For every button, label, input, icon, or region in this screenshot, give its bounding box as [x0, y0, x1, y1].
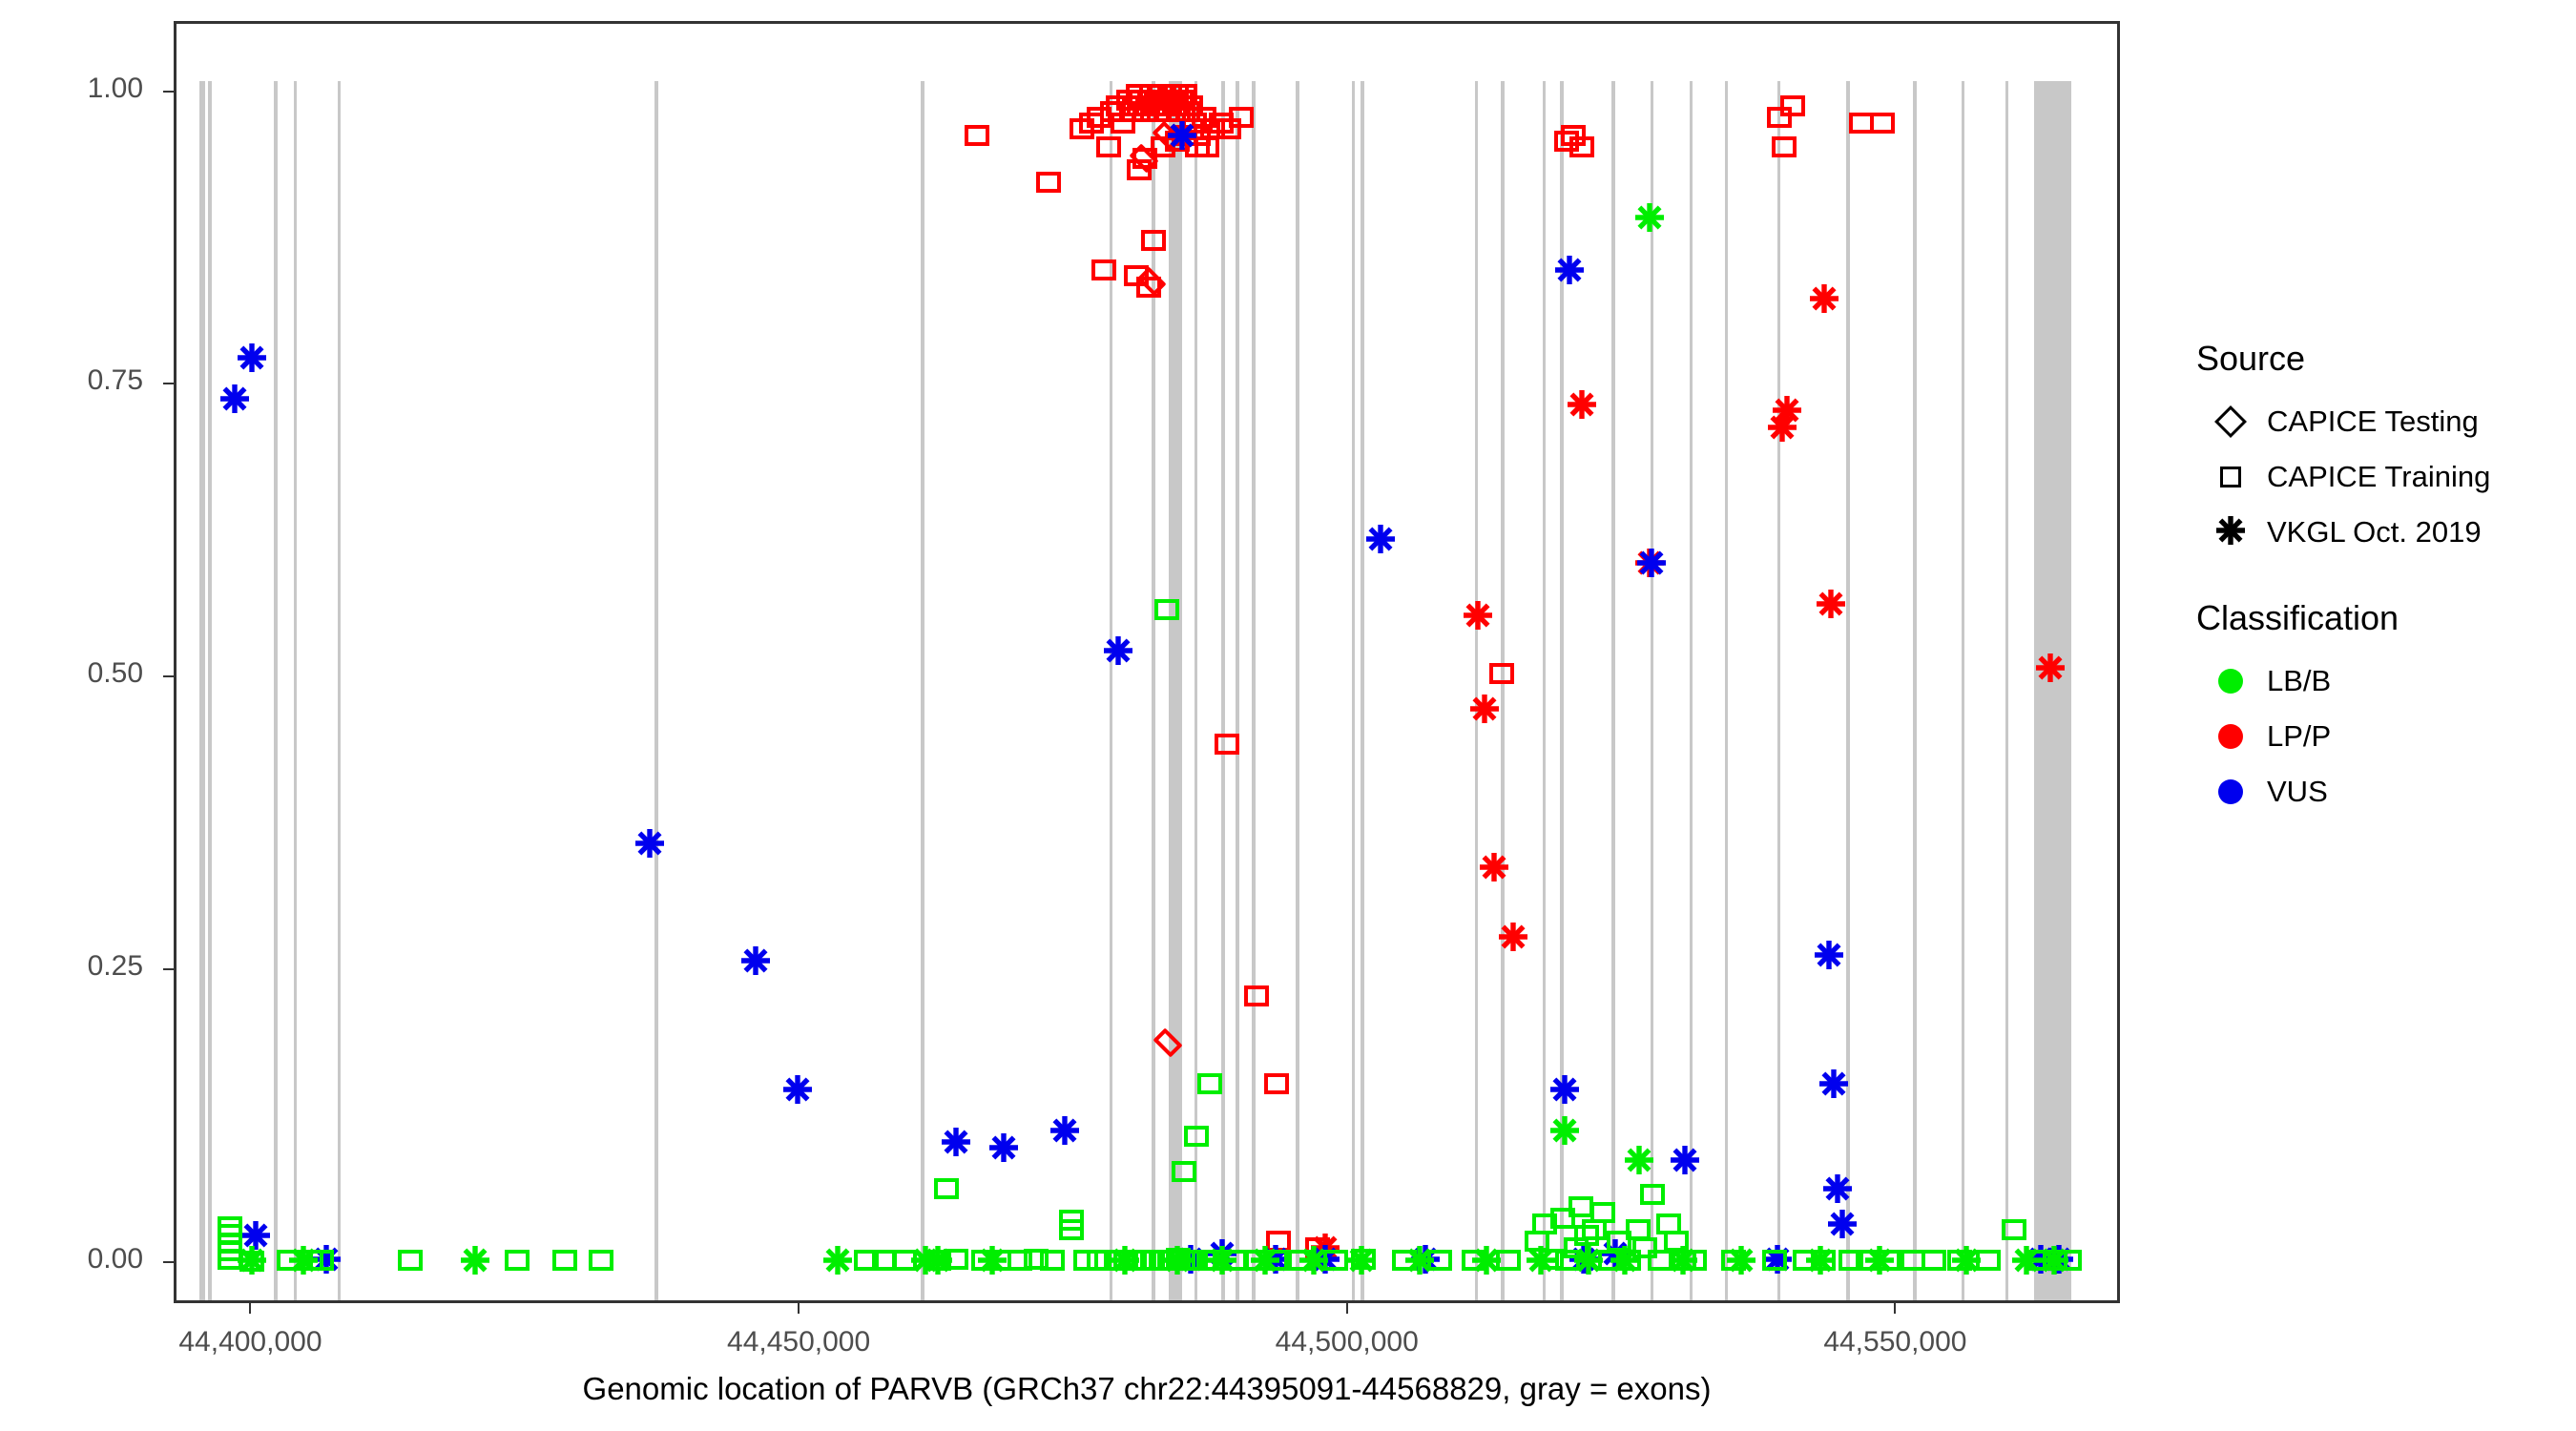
data-point-square: [1096, 136, 1121, 157]
data-point-asterisk: [1111, 1246, 1139, 1275]
data-point-square: [1793, 1250, 1818, 1271]
data-point-asterisk: [1550, 1075, 1579, 1104]
data-point-square: [1462, 1250, 1486, 1271]
y-axis-tick-label: 0.00: [38, 1243, 143, 1275]
data-point-square: [1122, 95, 1147, 116]
data-point-square: [299, 1250, 323, 1271]
data-point-asterisk: [635, 829, 664, 858]
legend-title: Source: [2196, 339, 2576, 379]
legend-item-label: VUS: [2267, 775, 2328, 809]
data-point-square: [1976, 1250, 2001, 1271]
legend: SourceCAPICE TestingCAPICE TrainingVKGL …: [2194, 339, 2576, 858]
data-point-square: [1059, 1219, 1084, 1240]
data-point-square: [1780, 95, 1805, 116]
legend-title: Classification: [2196, 598, 2576, 638]
data-point-square: [1116, 90, 1141, 111]
exon-band: [1560, 81, 1563, 1300]
data-point-square: [1073, 1250, 1098, 1271]
data-point-square: [1008, 1250, 1032, 1271]
data-point-square: [1947, 1250, 1972, 1271]
data-point-asterisk: [1550, 1116, 1579, 1145]
data-point-asterisk: [1464, 601, 1492, 630]
data-point-square: [1323, 1250, 1348, 1271]
data-point-asterisk: [1727, 1246, 1755, 1275]
data-point-square: [1305, 1237, 1330, 1258]
exon-band: [1725, 81, 1728, 1300]
data-point-square: [398, 1250, 423, 1271]
exon-band: [294, 81, 297, 1300]
data-point-square: [1197, 1073, 1222, 1094]
data-point-square: [1119, 101, 1144, 122]
data-point-square: [1036, 172, 1061, 193]
data-point-square: [944, 1249, 968, 1270]
exon-band: [1352, 81, 1355, 1300]
y-axis-tick-label: 0.50: [38, 657, 143, 690]
data-point-square: [1126, 84, 1151, 105]
data-point-asterisk: [1601, 1239, 1630, 1268]
x-axis-title: Genomic location of PARVB (GRCh37 chr22:…: [174, 1371, 2120, 1407]
y-axis-tick-mark: [163, 1261, 174, 1263]
data-point-square: [1876, 1250, 1901, 1271]
exon-band: [1690, 81, 1693, 1300]
data-point-square: [218, 1249, 242, 1270]
data-point-square: [1922, 1250, 1946, 1271]
square-icon: [2220, 467, 2241, 487]
legend-block: SourceCAPICE TestingCAPICE TrainingVKGL …: [2194, 339, 2576, 560]
data-point-square: [589, 1250, 613, 1271]
exon-band: [1475, 81, 1478, 1300]
data-point-square: [1555, 1250, 1580, 1271]
exon-band: [199, 81, 205, 1300]
data-point-square: [218, 1240, 242, 1261]
exon-band: [1777, 81, 1780, 1300]
data-point-square: [239, 1251, 264, 1272]
dot-icon: [2218, 669, 2243, 694]
data-point-square: [1229, 107, 1254, 128]
data-point-square: [1185, 136, 1210, 157]
exon-band: [1361, 81, 1363, 1300]
data-point-square: [309, 1250, 334, 1271]
data-point-square: [1496, 1250, 1521, 1271]
data-point-square: [1582, 1219, 1607, 1240]
legend-item[interactable]: LP/P: [2194, 709, 2576, 764]
data-point-asterisk: [1311, 1245, 1340, 1274]
data-point-asterisk: [1817, 590, 1845, 618]
diamond-icon: [2214, 405, 2247, 438]
exon-band: [1195, 81, 1197, 1300]
data-point-square: [971, 1250, 996, 1271]
data-point-square: [1607, 1231, 1631, 1252]
legend-item[interactable]: CAPICE Training: [2194, 449, 2576, 505]
data-point-asterisk: [1366, 525, 1395, 553]
legend-item-label: CAPICE Testing: [2267, 404, 2479, 439]
data-point-asterisk: [1828, 1210, 1857, 1238]
data-point-asterisk: [783, 1075, 812, 1104]
x-axis-tick-label: 44,500,000: [1276, 1326, 1419, 1358]
data-point-square: [1574, 1225, 1599, 1246]
data-point-square: [1263, 1250, 1288, 1271]
data-point-square: [1554, 131, 1579, 152]
data-point-square: [1087, 107, 1111, 128]
data-point-square: [1392, 1250, 1417, 1271]
legend-item-label: LP/P: [2267, 719, 2331, 754]
data-point-square: [1568, 1196, 1593, 1217]
data-point-asterisk: [1480, 853, 1508, 881]
legend-item[interactable]: LB/B: [2194, 653, 2576, 709]
legend-item-label: CAPICE Training: [2267, 460, 2490, 494]
data-point-square: [854, 1250, 879, 1271]
data-point-square: [1111, 113, 1135, 134]
x-axis-tick-label: 44,450,000: [727, 1326, 870, 1358]
data-point-square: [1598, 1250, 1623, 1271]
data-point-square: [1616, 1250, 1641, 1271]
data-point-asterisk: [1574, 1246, 1603, 1275]
data-point-asterisk: [1810, 284, 1839, 313]
data-point-asterisk: [1311, 1234, 1340, 1262]
exon-band: [1252, 81, 1255, 1300]
exon-band: [274, 81, 277, 1300]
data-point-asterisk: [1819, 1069, 1848, 1098]
data-point-square: [1682, 1250, 1707, 1271]
exon-band: [1962, 81, 1964, 1300]
plot-area: [177, 24, 2117, 1300]
exon-band: [2005, 81, 2008, 1300]
data-point-square: [1772, 136, 1797, 157]
data-point-square: [1059, 1210, 1084, 1231]
data-point-square: [1569, 136, 1594, 157]
data-point-asterisk: [241, 1221, 270, 1250]
data-point-square: [1264, 1073, 1289, 1094]
legend-item-label: LB/B: [2267, 664, 2331, 698]
exon-band: [338, 81, 341, 1300]
data-point-asterisk: [1635, 549, 1664, 577]
data-point-square: [1811, 1250, 1836, 1271]
data-point-square: [1870, 113, 1895, 134]
legend-item[interactable]: VKGL Oct. 2019: [2194, 505, 2576, 560]
data-point-square: [505, 1250, 530, 1271]
x-axis-tick-label: 44,550,000: [1823, 1326, 1966, 1358]
data-point-square: [1656, 1213, 1681, 1234]
x-axis-tick-mark: [249, 1303, 251, 1314]
data-point-square: [1849, 113, 1874, 134]
data-point-square: [1839, 1250, 1863, 1271]
data-point-square: [934, 1178, 959, 1199]
data-point-asterisk: [1104, 636, 1132, 665]
exon-band: [1152, 81, 1156, 1300]
data-point-asterisk: [823, 1246, 852, 1275]
legend-item-label: VKGL Oct. 2019: [2267, 515, 2482, 550]
x-axis-tick-mark: [798, 1303, 800, 1314]
data-point-square: [552, 1250, 577, 1271]
y-axis-tick-mark: [163, 91, 174, 93]
legend-item[interactable]: CAPICE Testing: [2194, 394, 2576, 449]
data-point-asterisk: [1411, 1245, 1440, 1274]
y-axis-tick-mark: [163, 968, 174, 970]
data-point-square: [1243, 1250, 1268, 1271]
data-point-square: [1762, 1250, 1787, 1271]
data-point-square: [1856, 1250, 1880, 1271]
data-point-asterisk: [741, 946, 770, 975]
data-point-square: [1124, 265, 1149, 286]
exon-band: [1543, 81, 1546, 1300]
data-point-square: [1186, 125, 1211, 146]
data-point-asterisk: [1527, 1246, 1555, 1275]
y-axis-tick-label: 1.00: [38, 73, 143, 105]
data-point-square: [1266, 1231, 1291, 1252]
data-point-asterisk: [1405, 1246, 1434, 1275]
data-point-square: [926, 1250, 951, 1271]
data-point-square: [1147, 101, 1172, 122]
data-point-square: [1664, 1231, 1689, 1252]
data-point-square: [1127, 159, 1152, 180]
exon-band: [1296, 81, 1298, 1300]
data-point-square: [1113, 1250, 1138, 1271]
y-axis-tick-label: 0.75: [38, 364, 143, 397]
exon-band: [1110, 81, 1112, 1300]
data-point-square: [1100, 101, 1125, 122]
data-point-square: [1129, 90, 1153, 111]
data-point-asterisk: [1952, 1246, 1981, 1275]
data-point-square: [218, 1216, 242, 1237]
data-point-square: [1144, 90, 1169, 111]
data-point-square: [1135, 95, 1160, 116]
exon-band: [1846, 81, 1849, 1300]
data-point-square: [1079, 113, 1104, 134]
data-point-asterisk: [1261, 1245, 1290, 1274]
asterisk-icon: [2216, 516, 2245, 550]
exon-band: [208, 81, 211, 1300]
exon-band: [2034, 81, 2071, 1300]
data-point-asterisk: [1768, 413, 1797, 442]
data-point-square: [1136, 277, 1161, 298]
data-point-square: [987, 1250, 1011, 1271]
data-point-square: [1626, 1219, 1651, 1240]
data-point-asterisk: [220, 384, 249, 413]
data-point-asterisk: [989, 1133, 1018, 1162]
data-point-square: [1564, 1237, 1589, 1258]
data-point-asterisk: [1050, 1116, 1079, 1145]
data-point-asterisk: [238, 1246, 266, 1275]
dot-icon: [2218, 724, 2243, 749]
data-point-asterisk: [1671, 1146, 1699, 1174]
data-point-square: [1195, 136, 1219, 157]
x-axis-tick-mark: [1894, 1303, 1896, 1314]
data-point-asterisk: [1806, 1246, 1835, 1275]
data-point-square: [218, 1233, 242, 1254]
x-axis-tick-mark: [1346, 1303, 1348, 1314]
exon-band: [1221, 81, 1224, 1300]
exon-band: [1913, 81, 1916, 1300]
data-point-asterisk: [1555, 256, 1584, 284]
data-point-square: [1122, 1250, 1147, 1271]
data-point-square: [277, 1250, 301, 1271]
data-point-square: [1561, 125, 1586, 146]
dot-icon: [2218, 779, 2243, 804]
exon-band: [1611, 81, 1614, 1300]
chart-root: CAPICE score (pathogenicity estimate) 0.…: [0, 0, 2576, 1431]
data-point-asterisk: [1569, 1245, 1598, 1274]
legend-block: ClassificationLB/BLP/PVUS: [2194, 598, 2576, 819]
data-point-square: [1040, 1250, 1065, 1271]
data-point-asterisk: [924, 1246, 952, 1275]
legend-item[interactable]: VUS: [2194, 764, 2576, 819]
data-point-asterisk: [911, 1246, 940, 1275]
data-point-asterisk: [1635, 203, 1664, 232]
data-point-square: [1024, 1249, 1049, 1270]
y-axis-tick-label: 0.25: [38, 950, 143, 983]
data-point-asterisk: [1568, 390, 1596, 419]
exon-band: [1236, 81, 1238, 1300]
exon-band: [1501, 81, 1504, 1300]
data-point-square: [1070, 118, 1094, 139]
data-point-square: [218, 1224, 242, 1245]
exon-band: [1169, 81, 1182, 1300]
data-point-square: [1104, 1250, 1129, 1271]
data-point-asterisk: [978, 1246, 1007, 1275]
data-point-asterisk: [1865, 1246, 1894, 1275]
data-point-square: [872, 1250, 897, 1271]
data-point-square: [1244, 985, 1269, 1006]
data-point-square: [892, 1250, 917, 1271]
data-point-asterisk: [1299, 1246, 1328, 1275]
plot-panel: [174, 21, 2120, 1303]
data-point-square: [1087, 1250, 1111, 1271]
data-point-asterisk: [942, 1128, 970, 1156]
data-point-square: [1288, 1250, 1313, 1271]
data-point-asterisk: [1669, 1246, 1697, 1275]
exon-band: [921, 81, 924, 1300]
data-point-asterisk: [238, 343, 266, 372]
data-point-square: [965, 125, 989, 146]
y-axis-tick-mark: [163, 383, 174, 384]
exon-band: [1651, 81, 1653, 1300]
x-axis-tick-label: 44,400,000: [178, 1326, 322, 1358]
data-point-square: [1178, 95, 1203, 116]
data-point-square: [1427, 1250, 1452, 1271]
exon-band: [654, 81, 657, 1300]
y-axis-tick-mark: [163, 675, 174, 677]
data-point-asterisk: [461, 1246, 489, 1275]
data-point-asterisk: [1815, 941, 1843, 969]
